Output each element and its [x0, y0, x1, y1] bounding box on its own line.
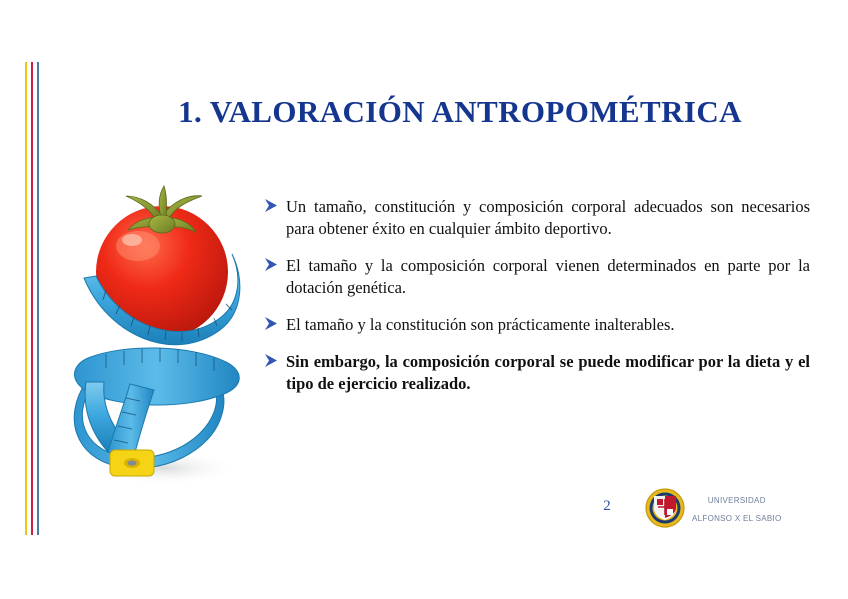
list-item-text: Sin embargo, la composición corporal se … [286, 351, 810, 395]
tape-end-clip [110, 450, 154, 476]
list-item: Un tamaño, constitución y composición co… [264, 196, 810, 240]
left-decorative-rules [25, 62, 41, 535]
decor-rule-red [31, 62, 33, 535]
list-item-text: El tamaño y la constitución son práctica… [286, 314, 810, 336]
page-title: 1. VALORACIÓN ANTROPOMÉTRICA [110, 94, 810, 130]
list-item: El tamaño y la constitución son práctica… [264, 314, 810, 336]
bullet-list: Un tamaño, constitución y composición co… [264, 196, 810, 395]
decor-rule-blue [37, 62, 39, 535]
arrowhead-bullet-icon [264, 351, 286, 367]
list-item: Sin embargo, la composición corporal se … [264, 351, 810, 395]
decor-rule-yellow [25, 62, 27, 535]
page-number: 2 [596, 498, 618, 515]
arrowhead-bullet-icon [264, 196, 286, 212]
university-logo-text: UNIVERSIDAD ALFONSO X EL SABIO [692, 490, 782, 526]
university-logo-line-2: ALFONSO X EL SABIO [692, 514, 782, 523]
list-item: El tamaño y la composición corporal vien… [264, 255, 810, 299]
arrowhead-bullet-icon [264, 314, 286, 330]
list-item-text: El tamaño y la composición corporal vien… [286, 255, 810, 299]
arrowhead-bullet-icon [264, 255, 286, 271]
university-logo: UNIVERSIDAD ALFONSO X EL SABIO [645, 488, 782, 528]
university-logo-line-1: UNIVERSIDAD [708, 496, 766, 505]
tomato-measuring-tape-image [62, 172, 262, 490]
university-crest-icon [645, 488, 685, 528]
slide-canvas: 1. VALORACIÓN ANTROPOMÉTRICA [0, 0, 848, 599]
list-item-text: Un tamaño, constitución y composición co… [286, 196, 810, 240]
